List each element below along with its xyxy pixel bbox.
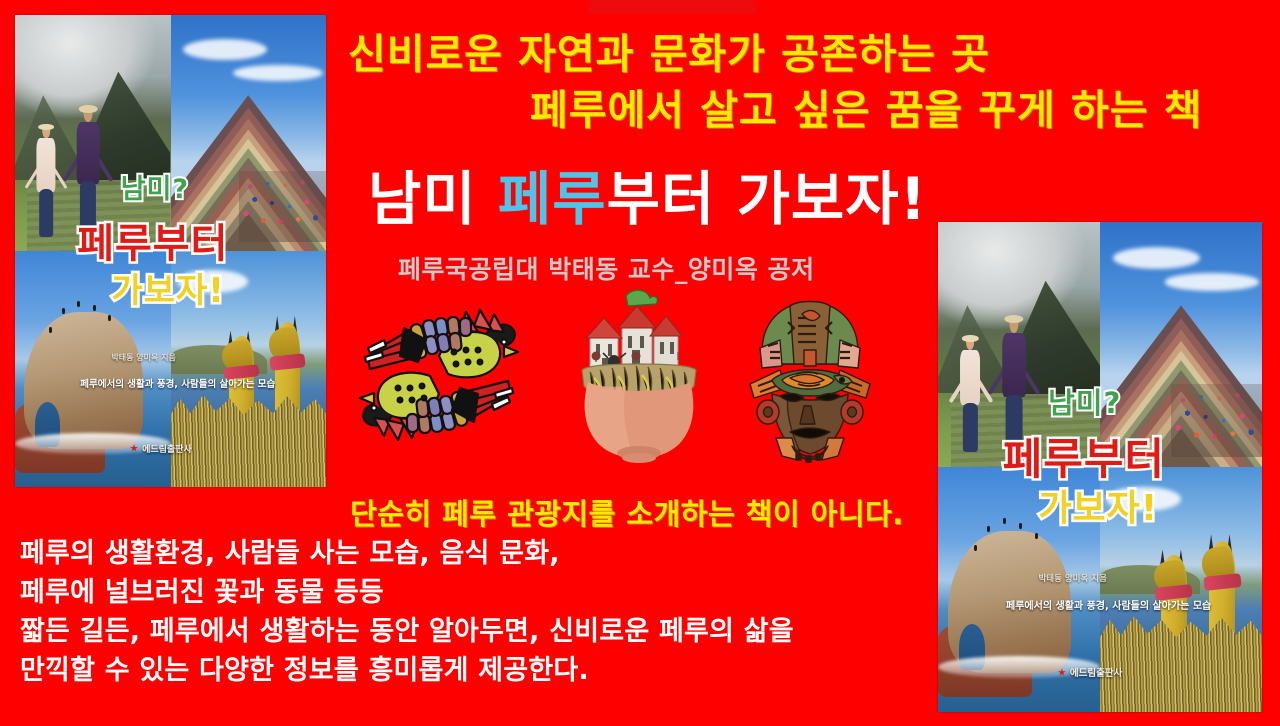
cover-photo-grid (938, 222, 1262, 712)
cover-photo-grid (15, 15, 326, 487)
seabird (49, 327, 52, 333)
person-man (993, 315, 1035, 452)
ocean-surf (938, 656, 1100, 678)
seabird (1019, 523, 1022, 529)
main-title-suffix: 부터 가보자! (607, 165, 927, 233)
cloud (233, 65, 323, 82)
tourist-crowd (239, 171, 326, 242)
cover-photo-uros-reed-boats (171, 251, 327, 487)
headline-line-1: 신비로운 자연과 문화가 공존하는 곳 (348, 20, 990, 80)
body-copy: 페루의 생활환경, 사람들 사는 모습, 음식 문화, 페루에 널브러진 꽃과 … (20, 534, 920, 690)
legs (963, 403, 977, 452)
boat-collar (223, 364, 259, 380)
cover-photo-uros-reed-boats (1100, 467, 1262, 712)
author-credit-line: 페루국공립대 박태동 교수_양미옥 공저 (398, 250, 815, 286)
legs (39, 189, 53, 237)
top-tint-band (588, 0, 756, 14)
cloud (183, 39, 267, 60)
torso (1002, 333, 1026, 397)
cover-photo-paracas-rock (938, 467, 1100, 712)
boat-collar (1203, 573, 1241, 591)
torso (77, 122, 100, 184)
book-cover-right[interactable]: 남미? 페루부터 가보자! 박태동 양미옥 지음 페루에서의 생활과 풍경, 사… (938, 222, 1262, 712)
body-copy-line: 만끽할 수 있는 다양한 정보를 흥미롭게 제공한다. (20, 651, 920, 690)
body-copy-line: 짧든 길든, 페루에서 생활하는 동안 알아두면, 신비로운 페루의 삶을 (20, 612, 920, 651)
sun-hat (79, 105, 98, 113)
main-title-highlight: 페루 (498, 165, 607, 233)
tagline: 단순히 페루 관광지를 소개하는 책이 아니다. (350, 491, 904, 533)
cover-photo-couple-machu-picchu (15, 15, 171, 251)
cloud (1106, 487, 1181, 512)
seabird (1003, 518, 1006, 524)
cover-photo-rainbow-mountain (171, 15, 327, 251)
legs (1006, 395, 1023, 453)
boat-collar (1155, 585, 1193, 602)
person-woman (29, 124, 63, 237)
legs (80, 181, 96, 237)
tourist-crowd (1171, 384, 1262, 458)
seabird (62, 308, 65, 314)
headline-line-2: 페루에서 살고 싶은 꿈을 꾸게 하는 책 (530, 76, 1202, 136)
seabird (987, 526, 990, 532)
body-copy-line: 페루에 널브러진 꽃과 동물 등등 (20, 573, 920, 612)
poster-canvas: 신비로운 자연과 문화가 공존하는 곳 페루에서 살고 싶은 꿈을 꾸게 하는 … (0, 0, 1280, 726)
seabird (93, 305, 96, 311)
sun-hat (1004, 315, 1023, 323)
andean-wooden-mask-icon (746, 288, 874, 470)
cloud (177, 270, 249, 294)
book-cover-left[interactable]: 남미? 페루부터 가보자! 박태동 양미옥 지음 페루에서의 생활과 풍경, 사… (15, 15, 326, 487)
sun-hat (38, 124, 54, 131)
person-woman (953, 335, 989, 453)
cover-photo-couple-machu-picchu (938, 222, 1100, 467)
cover-photo-paracas-rock (15, 251, 171, 487)
main-title-prefix: 남미 (368, 165, 498, 233)
main-title: 남미 페루부터 가보자! (368, 152, 927, 236)
torso (960, 350, 980, 405)
body-copy-line: 페루의 생활환경, 사람들 사는 모습, 음식 문화, (20, 534, 920, 573)
boat-collar (270, 353, 306, 370)
seabird (974, 545, 977, 551)
cloud (1113, 247, 1200, 269)
cover-photo-rainbow-mountain (1100, 222, 1262, 467)
andean-bird-textile-icon (344, 284, 534, 466)
cloud (1165, 273, 1259, 290)
person-man (68, 105, 108, 237)
sun-hat (962, 335, 978, 342)
peruvian-ceramic-vessel-icon (566, 282, 712, 468)
torso (37, 138, 56, 191)
ocean-surf (15, 433, 171, 454)
seabird (77, 301, 80, 307)
